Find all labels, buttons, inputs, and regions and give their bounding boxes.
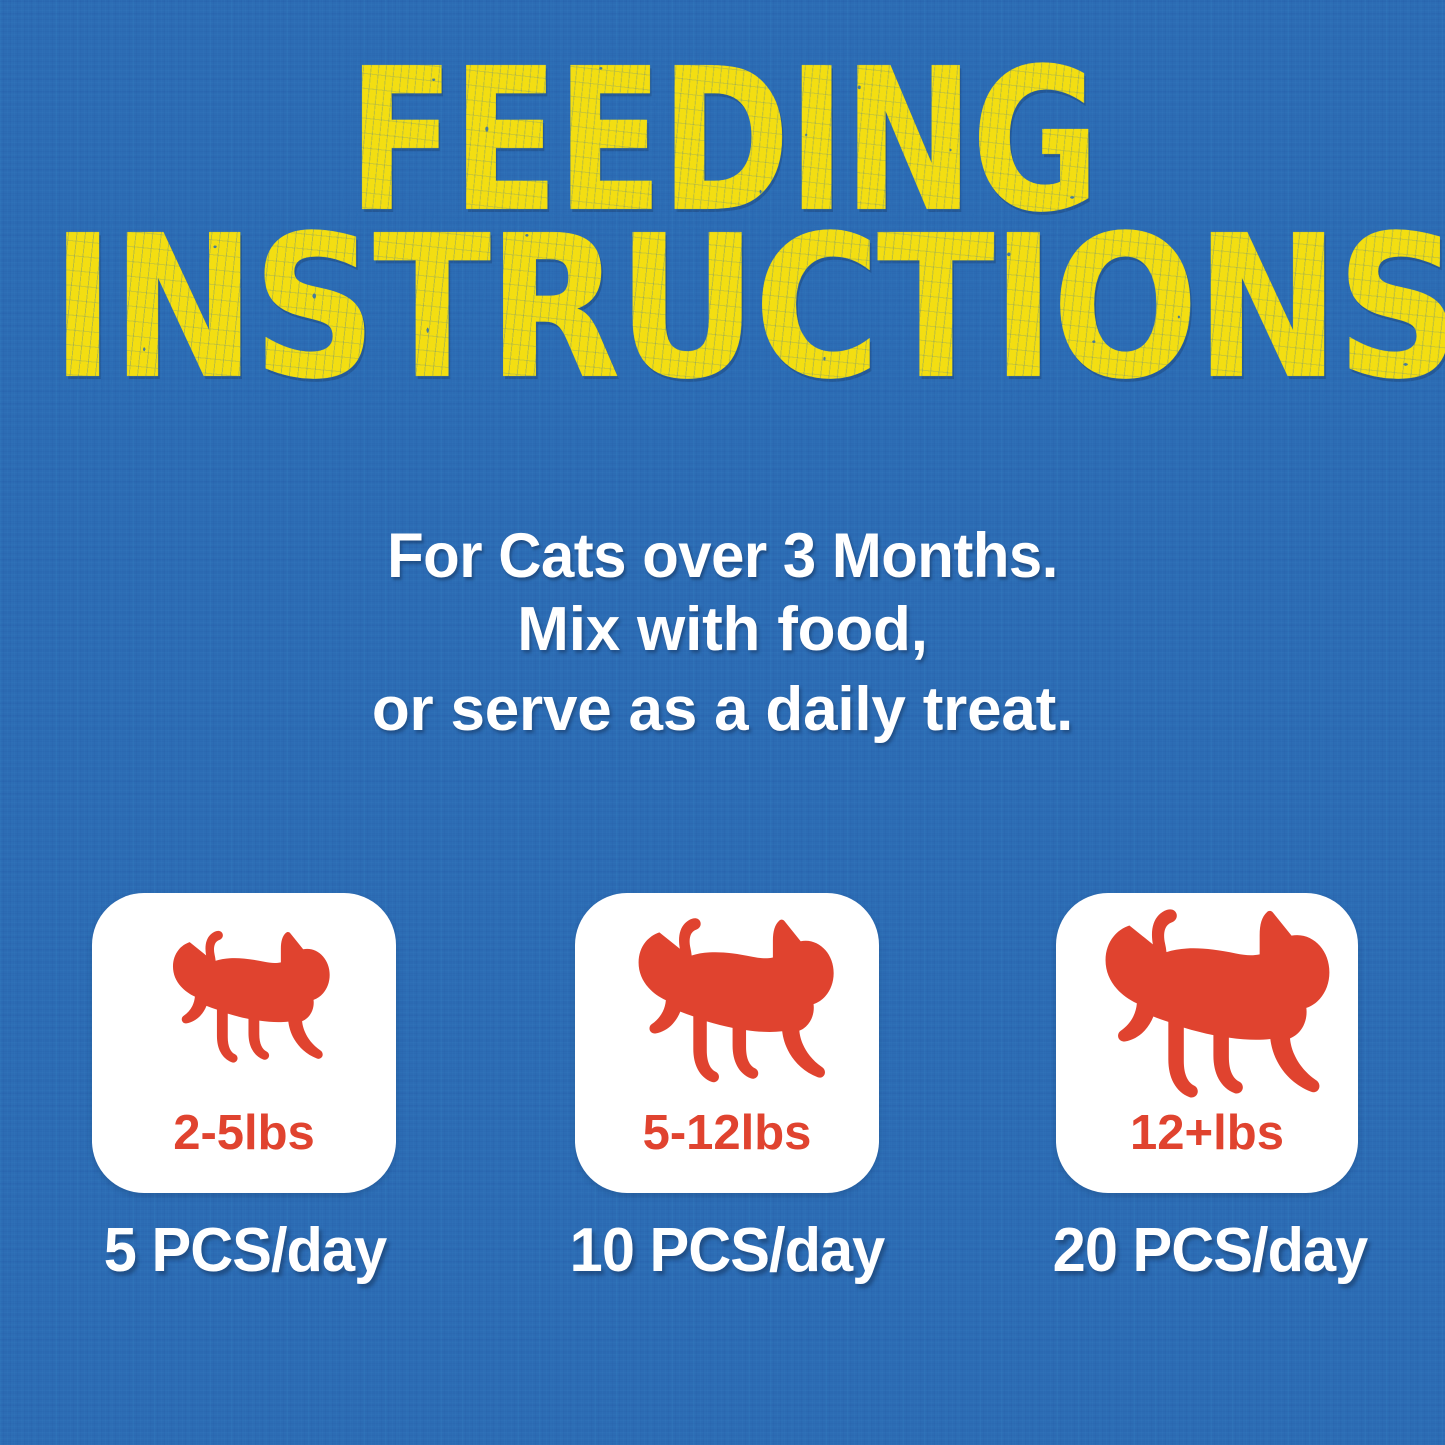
cat-size-card: 2-5lbs (92, 893, 396, 1193)
cat-size-card-weight-label: 5-12lbs (575, 1105, 879, 1161)
dosage-label: 5 PCS/day (67, 1215, 422, 1286)
dosage-row: 5 PCS/day 10 PCS/day 20 PCS/day (0, 1215, 1445, 1305)
dosage-label: 10 PCS/day (540, 1215, 914, 1286)
headline-text-instructions: INSTRUCTIONS (51, 217, 1445, 398)
cat-size-card-weight-label: 2-5lbs (92, 1105, 396, 1161)
cat-icon (605, 911, 849, 1096)
cat-size-card: 12+lbs (1056, 893, 1358, 1193)
cat-size-card: 5-12lbs (575, 893, 879, 1193)
instructions-line-2: Mix with food, (0, 590, 1445, 671)
dosage-label: 20 PCS/day (1018, 1215, 1402, 1286)
cat-icon (1067, 901, 1347, 1113)
page-title-line-2: INSTRUCTIONS (51, 217, 1395, 398)
cat-icon (146, 925, 342, 1075)
cat-size-card-row: 2-5lbs 5-12lbs 12+lbs (0, 893, 1445, 1195)
instructions-line-1: For Cats over 3 Months. (36, 523, 1409, 590)
feeding-instructions-poster: FEEDING INSTRUCTIONS For Cats over 3 Mon… (0, 0, 1445, 1445)
instructions-copy: For Cats over 3 Months. Mix with food, o… (0, 523, 1445, 751)
cat-size-card-weight-label: 12+lbs (1056, 1105, 1358, 1161)
instructions-line-3: or serve as a daily treat. (0, 670, 1445, 751)
